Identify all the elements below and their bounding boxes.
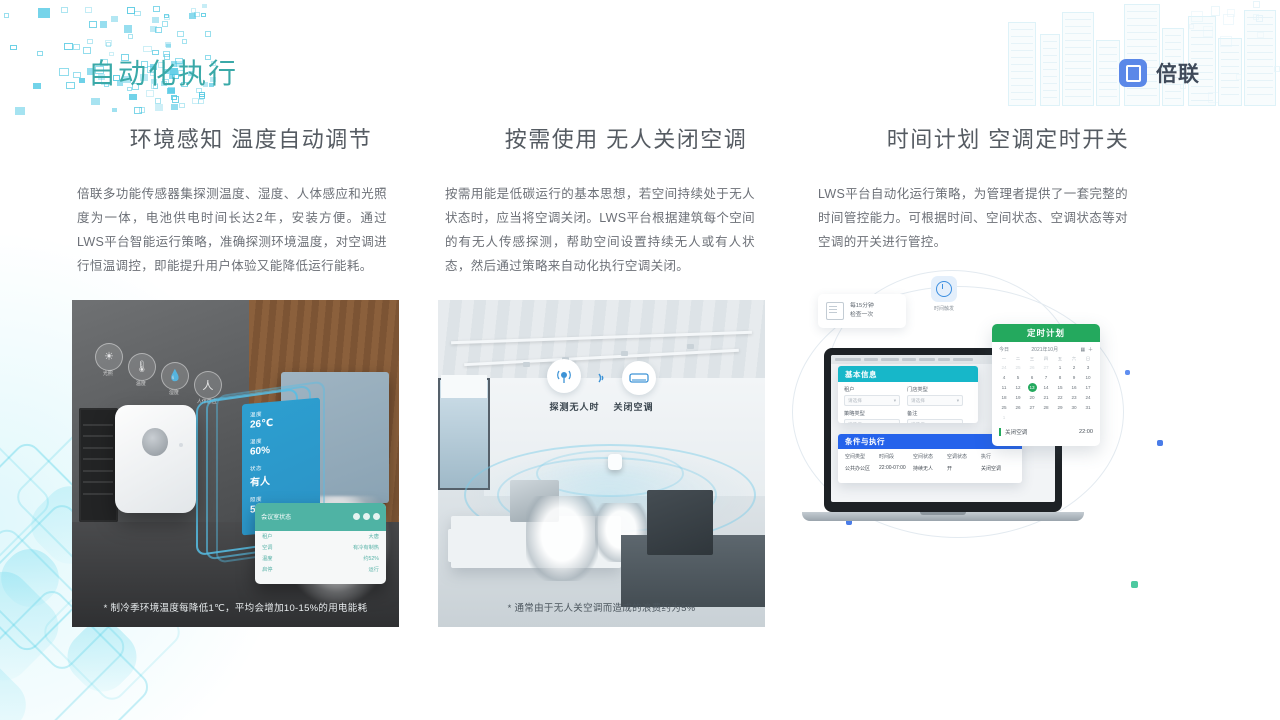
humidity-icon-label: 湿度 [157,389,191,396]
calendar-day[interactable]: 9 [1067,373,1081,382]
field-label: 策略类型 [844,410,900,417]
time-trigger-badge: 时间触发 [928,276,960,312]
event-time: 22:00 [1079,429,1093,435]
check-interval-card: 每15分钟 检查一次 [818,294,906,328]
field-label: 租户 [844,386,900,393]
calendar-day[interactable]: 7 [1039,373,1053,382]
column-header: 执行 [981,453,1015,460]
schedule-event-item[interactable]: 关闭空调 22:00 [999,428,1093,436]
calendar-day[interactable]: 24 [1081,393,1095,402]
calendar-header: 今日 2021年10月 ▦ ＋ [992,342,1100,355]
calendar-day[interactable]: 19 [1011,393,1025,402]
calendar-day[interactable]: 17 [1081,383,1095,392]
slide-canvas: 自动化执行 倍联 环境感知 温度自动调节 倍联多功能传感器集探测温度、湿度、人体… [0,0,1280,720]
calendar-weekday: 日 [1081,355,1095,362]
form-field[interactable]: 策略类型 请选择▾ [844,410,900,423]
calendar-day[interactable]: 6 [1025,373,1039,382]
calendar-weekday: 二 [1011,355,1025,362]
calendar-day[interactable]: 22 [1053,393,1067,402]
room-status-row: 启停 运行 [255,564,386,575]
calendar-day[interactable]: 5 [1011,373,1025,382]
column-2-badges: 探测无人时 关闭空调 [438,359,765,413]
calendar-day[interactable]: 27 [1039,363,1053,372]
row-key: 启停 [262,566,272,573]
city-skyline-decoration [1000,0,1280,105]
column-2-title: 按需使用 无人关闭空调 [444,122,830,154]
column-header: 空间类型 [845,453,879,460]
today-button[interactable]: 今日 [999,346,1009,353]
check-interval-line2: 检查一次 [850,311,874,320]
calendar-day[interactable]: 31 [1081,403,1095,412]
calendar-day[interactable]: 25 [1011,363,1025,372]
column-1-caption: * 制冷季环境温度每降低1℃，平均会增加10-15%的用电能耗 [72,600,399,614]
room-status-row: 空调 有冷有制热 [255,542,386,553]
calendar-day[interactable]: 16 [1067,383,1081,392]
cell-value: 关闭空调 [981,465,1015,472]
sunlight-icon: ☀ [95,343,123,371]
room-status-row: 租户 大唐 [255,531,386,542]
room-status-dots-icon [353,513,380,520]
badge-label-detect: 探测无人时 [549,402,599,412]
calendar-day[interactable]: 23 [1067,393,1081,402]
form-field[interactable]: 门店类型 请选择▾ [907,386,963,406]
calendar-day[interactable]: 13 [1028,383,1037,392]
feature-column-2: 按需使用 无人关闭空调 按需用能是低碳运行的基本思想，若空间持续处于无人状态时，… [444,108,830,627]
basic-info-card: 基本信息 租户 请选择▾ 门店类型 请选择▾ 策略类型 [838,366,978,423]
feature-columns: 环境感知 温度自动调节 倍联多功能传感器集探测温度、湿度、人体感应和光照度为一体… [0,108,1280,627]
row-key: 租户 [262,533,272,540]
calendar-day[interactable]: 24 [997,363,1011,372]
cell-value: 22:00-07:00 [879,465,913,472]
page-title: 自动化执行 [88,52,238,92]
calendar-weekday: 六 [1067,355,1081,362]
document-search-icon [826,302,844,320]
human-presence-icon: 人 [194,371,222,399]
column-2-caption: * 通常由于无人关空调而造成的浪费约为5% [438,600,765,614]
column-2-body: 按需用能是低碳运行的基本思想，若空间持续处于无人状态时，应当将空调关闭。LWS平… [445,182,755,278]
air-conditioner-icon [622,361,656,395]
temperature-icon: 🌡 [128,353,156,381]
calendar-day[interactable]: 18 [997,393,1011,402]
calendar-grid[interactable]: 一二三四五六日242526271234567891011121314151617… [992,355,1100,422]
chevron-down-icon: ▾ [894,422,896,424]
calendar-day[interactable]: 25 [997,403,1011,412]
schedule-card: 定时计划 今日 2021年10月 ▦ ＋ 一二三四五六日242526271234… [992,324,1100,446]
calendar-day[interactable]: 4 [997,373,1011,382]
chevron-down-icon: ▾ [894,398,896,404]
cell-value: 开 [947,465,981,472]
field-input[interactable]: 请选择 [907,419,963,423]
schedule-card-title: 定时计划 [992,324,1100,342]
check-interval-line1: 每15分钟 [850,302,874,311]
column-3-title: 时间计划 空调定时开关 [820,122,1206,154]
column-header: 时间段 [879,453,913,460]
row-key: 空调 [262,544,272,551]
calendar-day[interactable]: 20 [1025,393,1039,402]
sensor-icon-row: ☀ 光照 🌡 温度 💧 湿度 人 人体感应 [95,343,285,395]
calendar-day[interactable]: 14 [1039,383,1053,392]
brand-name: 倍联 [1156,58,1200,88]
calendar-day[interactable]: 3 [1081,363,1095,372]
calendar-day[interactable]: 30 [1067,403,1081,412]
column-3-body: LWS平台自动化运行策略，为管理者提供了一套完整的时间管控能力。可根据时间、空间… [818,182,1128,254]
occupancy-sensor-icon [547,359,581,393]
time-trigger-label: 时间触发 [928,305,960,312]
calendar-day[interactable]: 27 [1025,403,1039,412]
calendar-day[interactable]: 2 [1067,363,1081,372]
cell-value: 持续无人 [913,465,947,472]
calendar-month-label: 2021年10月 [1031,346,1058,353]
calendar-weekday: 三 [1025,355,1039,362]
calendar-day[interactable]: 21 [1039,393,1053,402]
form-field[interactable]: 备注 请选择 [907,410,963,423]
calendar-day[interactable]: 26 [1011,403,1025,412]
cell-value: 公共办公区 [845,465,879,472]
field-input[interactable]: 请选择▾ [907,395,963,406]
humidity-icon: 💧 [161,362,189,390]
calendar-weekday: 一 [997,355,1011,362]
event-name: 关闭空调 [1005,428,1027,436]
calendar-day[interactable]: 15 [1053,383,1067,392]
table-row: 公共办公区 22:00-07:00 持续无人 开 关闭空调 [838,460,1022,472]
row-value: 运行 [369,566,379,573]
column-3-graphic: 每15分钟 检查一次 时间触发 [802,276,1142,576]
field-label: 门店类型 [907,386,963,393]
field-input[interactable]: 请选择▾ [844,395,900,406]
field-input[interactable]: 请选择▾ [844,419,900,423]
signal-wave-icon [593,369,610,386]
column-header: 空间状态 [913,453,947,460]
row-value: 大唐 [369,533,379,540]
calendar-day[interactable]: 26 [1025,363,1039,372]
rounded-square-logo-icon [1119,59,1147,87]
room-status-row: 温度 约52% [255,553,386,564]
feature-column-3: 时间计划 空调定时开关 LWS平台自动化运行策略，为管理者提供了一套完整的时间管… [820,108,1206,627]
calendar-day[interactable]: 8 [1053,373,1067,382]
column-1-image: ☀ 光照 🌡 温度 💧 湿度 人 人体感应 [72,300,399,627]
calendar-weekday: 四 [1039,355,1053,362]
feature-column-1: 环境感知 温度自动调节 倍联多功能传感器集探测温度、湿度、人体感应和光照度为一体… [72,108,458,627]
table-header-row: 空间类型 时间段 空间状态 空调状态 执行 [838,449,1022,460]
column-1-title: 环境感知 温度自动调节 [72,122,458,154]
brand-logo: 倍联 [1119,58,1200,88]
row-key: 温度 [262,555,272,562]
calendar-day[interactable]: 29 [1053,403,1067,412]
calendar-day[interactable]: 12 [1011,383,1025,392]
form-field[interactable]: 租户 请选择▾ [844,386,900,406]
calendar-day[interactable]: 10 [1081,373,1095,382]
badge-label-shutoff: 关闭空调 [614,402,654,412]
temperature-icon-label: 温度 [124,380,158,387]
row-value: 有冷有制热 [353,544,379,551]
clock-icon [931,276,957,302]
calendar-day[interactable]: 1 [1053,363,1067,372]
calendar-day[interactable]: 28 [1039,403,1053,412]
column-header: 空调状态 [947,453,981,460]
calendar-day[interactable]: 11 [997,383,1011,392]
calendar-weekday: 五 [1053,355,1067,362]
sunlight-icon-label: 光照 [91,370,125,377]
room-status-title: 会议室状态 [261,512,291,521]
row-value: 约52% [363,555,379,562]
basic-info-title: 基本信息 [838,366,978,382]
room-status-card: 会议室状态 租户 大唐 空调 有冷有制热 温度 [255,503,386,585]
chevron-down-icon: ▾ [957,398,959,404]
calendar-actions[interactable]: ▦ ＋ [1080,346,1093,353]
column-1-body: 倍联多功能传感器集探测温度、湿度、人体感应和光照度为一体，电池供电时间长达2年，… [77,182,387,278]
field-label: 备注 [907,410,963,417]
column-2-image: 探测无人时 关闭空调 * 通常由于无人关空调而造成的浪费约为5% [438,300,765,627]
calendar-day[interactable]: 1 [997,413,1011,422]
